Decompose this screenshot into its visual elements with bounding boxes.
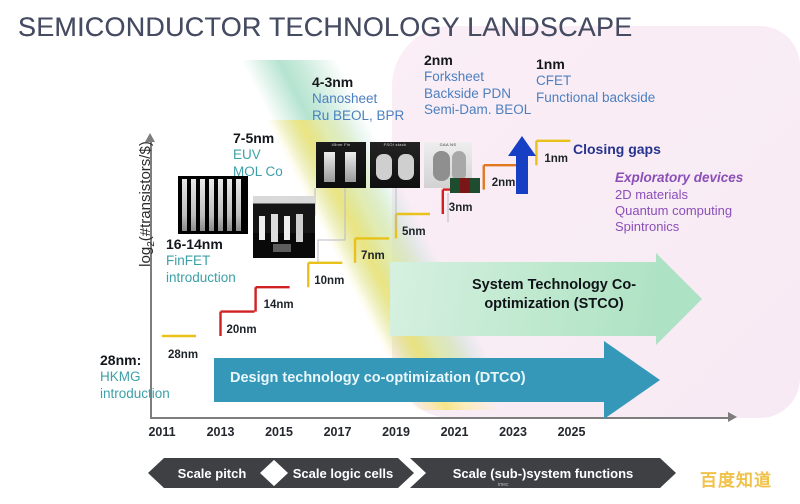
tech-node-4-3nm: 4-3nm Nanosheet Ru BEOL, BPR [312,74,404,124]
stair-label-5nm: 5nm [402,226,426,238]
up-arrow-head [508,136,536,156]
tem-color-overlay [450,178,480,193]
tech-node-28nm-line-0: HKMG [100,369,170,385]
y-axis-label-sub: 2 [146,241,157,247]
y-axis-label-rest: (#transistors/$) [137,141,154,241]
x-axis-tick-2025: 2025 [558,425,586,439]
x-axis-tick-labels: 20112013201520172019202120232025 [150,425,730,445]
tech-node-7-5nm-line-0: EUV [233,147,283,163]
dtco-arrow: Design technology co-optimization (DTCO) [214,350,660,410]
stair-label-28nm: 28nm [168,349,198,361]
stair-label-14nm: 14nm [264,299,294,311]
exploratory-item-1: Quantum computing [615,203,743,219]
exploratory-item-0: 2D materials [615,187,743,203]
tech-node-2nm-line-1: Backside PDN [424,86,531,102]
scale-bar-segment-1: Scale logic cells [272,458,414,488]
x-axis-tick-2015: 2015 [265,425,293,439]
scale-bar-label-0: Scale pitch [178,466,247,481]
tech-node-4-3nm-header: 4-3nm [312,74,404,91]
watermark: 百度知道 [700,466,772,491]
stco-arrow-tip [656,253,702,345]
scale-bar-segment-0: Scale pitch [148,458,276,488]
tech-node-2nm-line-2: Semi-Dam. BEOL [424,102,531,118]
tech-node-16-14nm: 16-14nm FinFET introduction [166,236,236,286]
exploratory-item-2: Spintronics [615,219,743,235]
x-axis-tick-2019: 2019 [382,425,410,439]
exploratory-devices-header: Exploratory devices [615,170,743,187]
nanosheet-tem-1-caption: 45nm Fin [316,142,366,147]
stco-label-line-2: optimization (STCO) [446,295,662,314]
tech-node-7-5nm: 7-5nm EUV MOL Co [233,130,283,180]
x-axis-arrowhead-icon [728,412,737,422]
x-axis-tick-2017: 2017 [324,425,352,439]
nanosheet-tem-2-caption: FSOI stack [370,142,420,147]
stco-arrow-label: System Technology Co- optimization (STCO… [446,276,662,314]
stco-arrow: System Technology Co- optimization (STCO… [390,262,702,336]
slide-root: SEMICONDUCTOR TECHNOLOGY LANDSCAPE log2(… [0,0,800,504]
tech-node-16-14nm-line-1: introduction [166,270,236,286]
tech-node-2nm: 2nm Forksheet Backside PDN Semi-Dam. BEO… [424,52,531,118]
scale-bar-label-2: Scale (sub-)system functions [453,466,634,481]
page-title: SEMICONDUCTOR TECHNOLOGY LANDSCAPE [18,12,632,43]
up-arrow-icon [508,136,536,194]
stair-label-7nm: 7nm [361,250,385,262]
stair-label-3nm: 3nm [449,202,473,214]
imec-mark: imec [498,482,509,488]
x-axis-tick-2013: 2013 [207,425,235,439]
tech-node-7-5nm-header: 7-5nm [233,130,283,147]
up-arrow-shaft [516,154,528,194]
tech-node-7-5nm-line-1: MOL Co [233,164,283,180]
scale-bar-segment-2: Scale (sub-)system functions [410,458,676,488]
stco-label-line-1: System Technology Co- [446,276,662,295]
y-axis-label: log2(#transistors/$) [137,119,157,289]
tech-node-4-3nm-line-1: Ru BEOL, BPR [312,108,404,124]
tech-node-16-14nm-line-0: FinFET [166,253,236,269]
closing-gaps-label: Closing gaps [573,141,661,157]
stair-label-1nm: 1nm [544,153,568,165]
tech-node-28nm-line-1: introduction [100,386,170,402]
exploratory-devices-block: Exploratory devices 2D materials Quantum… [615,170,743,236]
dtco-arrow-label: Design technology co-optimization (DTCO) [230,370,526,386]
tech-node-1nm-line-1: Functional backside [536,90,655,106]
tech-node-28nm-header: 28nm: [100,352,170,369]
x-axis-tick-2021: 2021 [441,425,469,439]
tech-node-4-3nm-line-0: Nanosheet [312,91,404,107]
tech-node-1nm-header: 1nm [536,56,655,73]
fin-array-tem [178,176,248,234]
stair-label-10nm: 10nm [314,275,344,287]
dtco-arrow-tip [604,341,660,419]
mfp32-tem: MFP32 [253,196,315,258]
stair-label-20nm: 20nm [227,324,257,336]
tech-node-28nm: 28nm: HKMG introduction [100,352,170,402]
nanosheet-tem-2: FSOI stack [370,142,420,188]
scale-bar-label-1: Scale logic cells [293,466,393,481]
nanosheet-tem-3-caption: GAA NS [424,142,472,147]
nanosheet-tem-1: 45nm Fin [316,142,366,188]
x-axis-tick-2011: 2011 [148,425,175,439]
tech-node-16-14nm-header: 16-14nm [166,236,236,253]
x-axis-tick-2023: 2023 [499,425,527,439]
tech-node-1nm-line-0: CFET [536,73,655,89]
y-axis-label-main: log [137,247,154,267]
tech-node-2nm-header: 2nm [424,52,531,69]
tech-node-2nm-line-0: Forksheet [424,69,531,85]
mfp32-tem-caption: MFP32 [253,196,315,201]
tech-node-1nm: 1nm CFET Functional backside [536,56,655,106]
